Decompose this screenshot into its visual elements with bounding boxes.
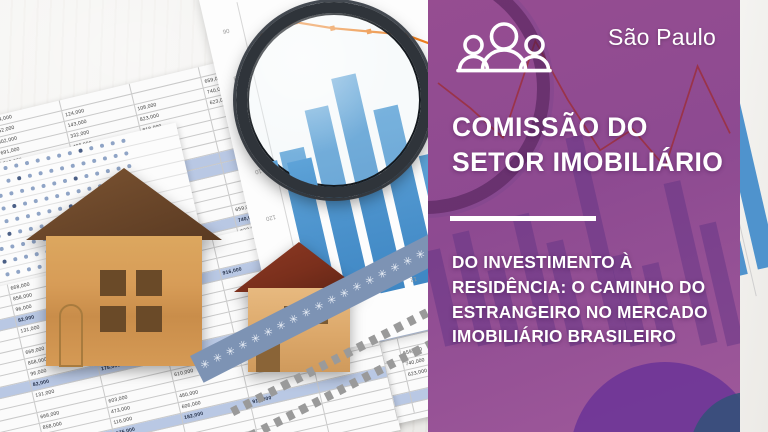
magnifying-glass [236, 2, 432, 198]
punch-dot [10, 244, 15, 249]
asterisk-mark: ✳ [237, 339, 250, 353]
punch-dot [3, 166, 8, 171]
punch-dot [6, 178, 11, 183]
punch-dot [25, 161, 30, 166]
punch-dot [0, 247, 4, 252]
dash-mark [318, 360, 328, 371]
asterisk-mark: ✳ [300, 306, 313, 320]
dash-mark [368, 334, 378, 345]
asterisk-mark: ✳ [262, 326, 275, 340]
people-group-icon [456, 22, 552, 74]
dash-mark [293, 373, 303, 384]
punch-dot [110, 141, 115, 146]
dash-mark [243, 398, 253, 409]
punch-dot [103, 156, 108, 161]
dash-mark [399, 352, 409, 363]
page-subtitle: DO INVESTIMENTO À RESIDÊNCIA: O CAMINHO … [452, 250, 730, 349]
punch-dot [46, 156, 51, 161]
dash-mark [273, 416, 283, 427]
city-label: São Paulo [608, 24, 716, 51]
punch-dot [7, 231, 12, 236]
dash-mark [268, 386, 278, 397]
asterisk-mark: ✳ [401, 255, 414, 269]
asterisk-mark: ✳ [363, 274, 376, 288]
asterisk-mark: ✳ [224, 345, 237, 359]
punch-dot [113, 154, 118, 159]
punch-dot [17, 176, 22, 181]
asterisk-mark: ✳ [249, 332, 262, 346]
punch-dot [4, 219, 9, 224]
dash-mark [336, 384, 346, 395]
dash-mark [311, 397, 321, 408]
punch-dot [124, 151, 129, 156]
asterisk-mark: ✳ [287, 313, 300, 327]
punch-dot [9, 191, 14, 196]
punch-dot [5, 272, 10, 277]
axis-tick-label: 120 [265, 213, 276, 221]
asterisk-mark: ✳ [414, 248, 427, 262]
punch-dot [35, 158, 40, 163]
dash-mark [356, 341, 366, 352]
dash-mark [280, 379, 290, 390]
dash-mark [305, 366, 315, 377]
dash-mark [349, 378, 359, 389]
page-title: COMISSÃO DO SETOR IMOBILIÁRIO [452, 110, 724, 180]
dash-mark [331, 354, 341, 365]
slide-canvas: 380,000430,000434,000423,000323,000252,0… [0, 0, 768, 432]
punch-dot [0, 193, 3, 198]
asterisk-mark: ✳ [351, 281, 364, 295]
punch-dot [15, 216, 20, 221]
asterisk-mark: ✳ [389, 261, 402, 275]
dash-mark [386, 358, 396, 369]
dash-mark [343, 347, 353, 358]
title-divider [450, 216, 596, 221]
punch-dot [12, 204, 17, 209]
asterisk-mark: ✳ [338, 287, 351, 301]
asterisk-mark: ✳ [211, 352, 224, 366]
dash-mark [411, 346, 421, 357]
punch-dot [67, 151, 72, 156]
punch-dot [89, 146, 94, 151]
asterisk-mark: ✳ [199, 358, 212, 372]
asterisk-mark: ✳ [325, 293, 338, 307]
punch-dot [14, 163, 19, 168]
asterisk-mark: ✳ [376, 268, 389, 282]
dash-mark [261, 422, 271, 432]
punch-dot [1, 206, 6, 211]
punch-dot [57, 153, 62, 158]
punch-dot [2, 259, 7, 264]
purple-content-panel: São Paulo COMISSÃO DO SETOR IMOBILIÁRIO … [428, 0, 740, 432]
punch-dot [13, 257, 18, 262]
dash-mark [323, 390, 333, 401]
dash-mark [374, 365, 384, 376]
dash-mark [361, 371, 371, 382]
punch-dot [121, 138, 126, 143]
punch-dot [78, 148, 83, 153]
magnifier-lens-content [236, 2, 359, 198]
axis-tick-label: 06 [222, 27, 230, 34]
dash-mark [286, 410, 296, 421]
dash-mark [255, 392, 265, 403]
dash-mark [393, 322, 403, 333]
punch-dot [16, 269, 21, 274]
dash-mark [406, 315, 416, 326]
wooden-house-large [24, 166, 224, 378]
punch-dot [18, 229, 23, 234]
punch-dot [92, 158, 97, 163]
asterisk-mark: ✳ [313, 300, 326, 314]
punch-dot [0, 234, 1, 239]
dash-mark [298, 403, 308, 414]
punch-dot [100, 143, 105, 148]
asterisk-mark: ✳ [275, 319, 288, 333]
dash-mark [381, 328, 391, 339]
